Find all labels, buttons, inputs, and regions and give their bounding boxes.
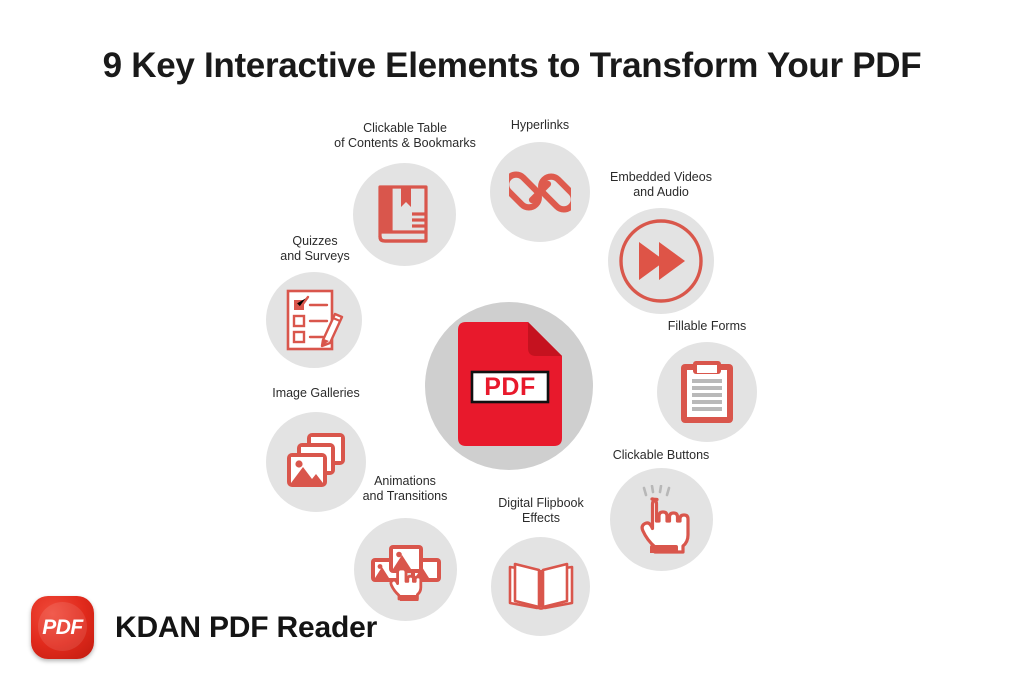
- page-title: 9 Key Interactive Elements to Transform …: [0, 46, 1024, 86]
- pointing-hand-click-icon: [632, 485, 692, 555]
- node-label-toc: Clickable Table of Contents & Bookmarks: [312, 121, 498, 151]
- center-pdf-node: PDF: [425, 302, 593, 470]
- brand-name: KDAN PDF Reader: [115, 611, 377, 645]
- center-pdf-badge-text: PDF: [484, 373, 536, 401]
- node-bubble-clickable-buttons[interactable]: [610, 468, 713, 571]
- node-label-image-galleries: Image Galleries: [241, 386, 391, 401]
- node-label-flipbook: Digital Flipbook Effects: [466, 496, 616, 526]
- infographic-canvas: 9 Key Interactive Elements to Transform …: [0, 0, 1024, 683]
- node-bubble-hyperlinks[interactable]: [490, 142, 590, 242]
- stacked-photos-icon: [283, 431, 349, 493]
- open-book-icon: [507, 561, 575, 613]
- node-label-hyperlinks: Hyperlinks: [479, 118, 601, 133]
- clipboard-form-icon: [678, 359, 736, 425]
- node-bubble-flipbook[interactable]: [491, 537, 590, 636]
- logo-mark-text: PDF: [42, 616, 83, 640]
- node-bubble-quizzes[interactable]: [266, 272, 362, 368]
- node-label-video-audio: Embedded Videos and Audio: [586, 170, 736, 200]
- node-label-clickable-buttons: Clickable Buttons: [585, 448, 737, 463]
- chain-link-icon: [509, 161, 571, 223]
- node-bubble-fillable-forms[interactable]: [657, 342, 757, 442]
- node-bubble-video-audio[interactable]: [608, 208, 714, 314]
- node-label-quizzes: Quizzes and Surveys: [240, 234, 390, 264]
- checklist-pencil-icon: [283, 288, 345, 352]
- images-with-hand-icon: [369, 536, 443, 604]
- brand-logo: PDF KDAN PDF Reader: [31, 596, 377, 659]
- kdan-pdf-app-icon: PDF: [31, 596, 94, 659]
- node-bubble-image-galleries[interactable]: [266, 412, 366, 512]
- node-label-fillable-forms: Fillable Forms: [632, 319, 782, 334]
- fast-forward-icon: [617, 217, 705, 305]
- pdf-document-icon: PDF: [450, 320, 568, 452]
